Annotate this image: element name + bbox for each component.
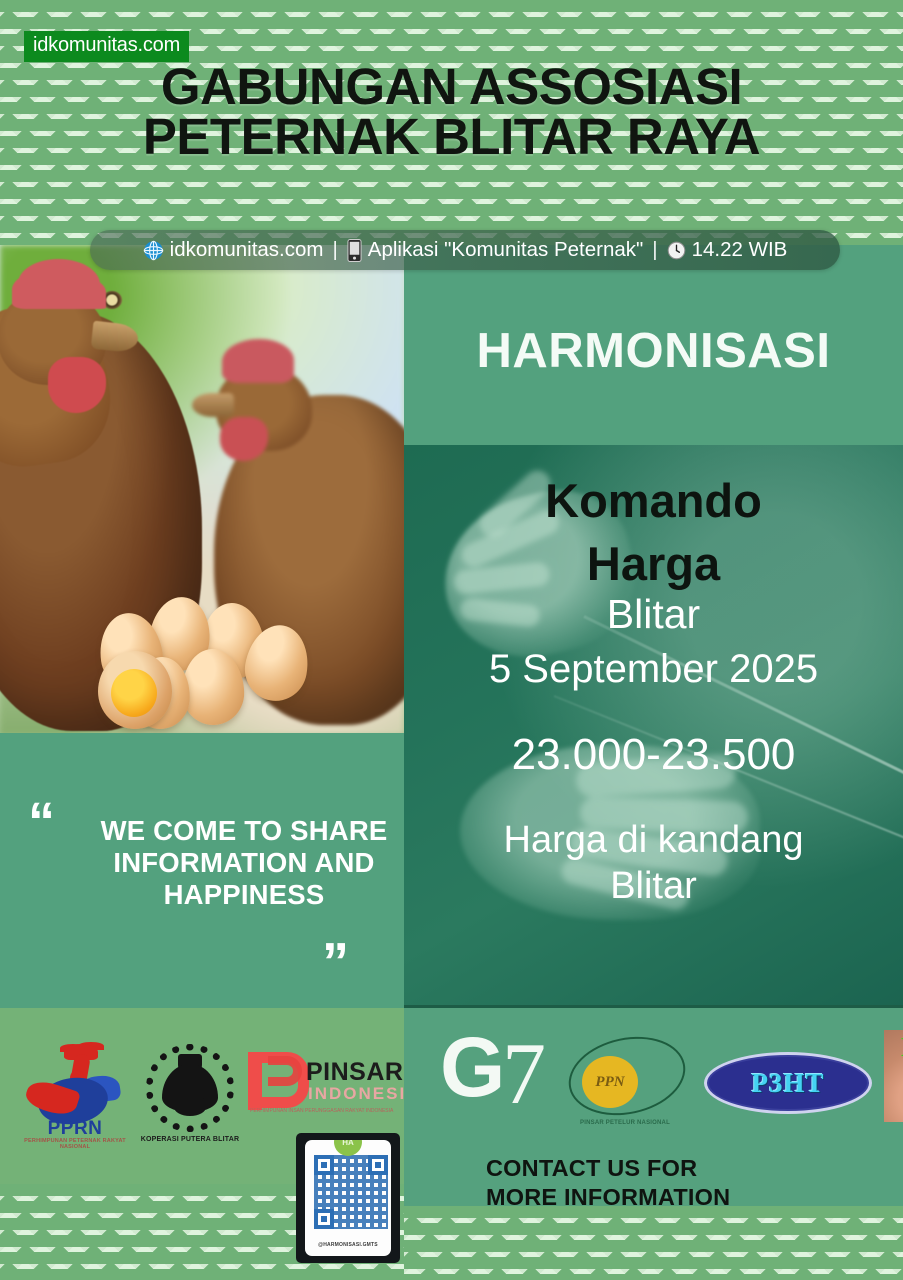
logo-p3ht: P3HT: [704, 1052, 872, 1114]
date-label: 5 September 2025: [404, 636, 903, 690]
logo-htt-line-2: NEWS: [884, 1068, 903, 1088]
info-bar: idkomunitas.com | Aplikasi "Komunitas Pe…: [90, 230, 840, 270]
logo-ppn-caption: PINSAR PETELUR NASIONAL: [560, 1120, 690, 1126]
quote-line-3: HAPPINESS: [84, 879, 404, 911]
info-website-label: idkomunitas.com: [170, 238, 324, 262]
qr-finder-top-right: [368, 1155, 388, 1175]
price-value: 23.000-23.500: [404, 690, 903, 778]
qr-finder-bottom-left: [314, 1209, 334, 1229]
heading-komando: Komando: [404, 445, 903, 524]
quote-line-2: INFORMATION AND: [84, 847, 404, 879]
poster: GABUNGAN ASSOSIASI PETERNAK BLITAR RAYA …: [0, 0, 903, 1280]
title-line-2: PETERNAK BLITAR RAYA: [0, 112, 903, 162]
quote-text: WE COME TO SHARE INFORMATION AND HAPPINE…: [84, 815, 404, 912]
logo-g7-letter: G: [440, 1032, 505, 1103]
info-app[interactable]: Aplikasi "Komunitas Peternak": [347, 238, 644, 262]
info-separator-1: |: [323, 238, 346, 262]
price-note: Harga di kandang Blitar: [404, 778, 903, 909]
clock-icon: [667, 241, 686, 260]
contact-line-1: CONTACT US FOR: [486, 1154, 730, 1183]
logo-pprn: PPRN PERHIMPUNAN PETERNAK RAKYAT NASIONA…: [24, 1046, 126, 1146]
egg-pile: [96, 595, 346, 735]
logo-htt-line-3: OK: [884, 1092, 903, 1109]
info-time: 14.22 WIB: [667, 238, 788, 262]
page-title: GABUNGAN ASSOSIASI PETERNAK BLITAR RAYA: [0, 62, 903, 162]
price-announcement-panel: Komando Harga Blitar 5 September 2025 23…: [404, 445, 903, 1008]
partner-logos-left: PPRN PERHIMPUNAN PETERNAK RAKYAT NASIONA…: [0, 1008, 404, 1280]
qr-caption: @HARMONISASI.GMTS: [305, 1242, 391, 1248]
quote-line-1: WE COME TO SHARE: [84, 815, 404, 847]
price-note-line-1: Harga di kandang: [404, 818, 903, 864]
qr-code-card[interactable]: HA @HARMONISASI.GMTS: [296, 1133, 400, 1263]
quote-panel: “ WE COME TO SHARE INFORMATION AND HAPPI…: [0, 733, 404, 1008]
logo-g7-number: 7: [502, 1038, 546, 1113]
qr-finder-top-left: [314, 1155, 334, 1175]
chevron-strip-bottom-right: [404, 1206, 903, 1280]
info-website[interactable]: idkomunitas.com: [143, 238, 324, 262]
logo-koperasi-putera-blitar: KOPERASI PUTERA BLITAR: [140, 1040, 240, 1152]
quote-open-mark: “: [28, 809, 53, 836]
quote-close-mark: ”: [322, 949, 347, 976]
logo-ppn-label: PPN: [582, 1056, 638, 1108]
info-time-label: 14.22 WIB: [692, 238, 788, 262]
mobile-phone-icon: [347, 239, 362, 262]
logo-koperasi-label: KOPERASI PUTERA BLITAR: [134, 1136, 246, 1143]
heading-harga: Harga: [404, 524, 903, 587]
logo-g7: G 7: [440, 1030, 550, 1134]
logo-pinsar-label: PINSAR: [306, 1058, 403, 1087]
cracked-egg-icon: [98, 651, 172, 729]
partner-logos-right: G 7 PPN PINSAR PETELUR NASIONAL P3HT HTT…: [404, 1008, 903, 1280]
logo-pprn-label: PPRN: [24, 1118, 126, 1140]
city-label: Blitar: [404, 587, 903, 636]
qr-badge: HA: [334, 1140, 362, 1156]
globe-icon: [143, 240, 164, 261]
info-separator-2: |: [643, 238, 666, 262]
chicken-egg-photo: [0, 245, 404, 735]
logo-pinsar-sub: INDONESIA: [308, 1084, 404, 1104]
harmonisasi-title: HARMONISASI: [404, 323, 903, 379]
harmonisasi-panel: HARMONISASI: [404, 245, 903, 445]
price-note-line-2: Blitar: [404, 864, 903, 910]
logo-p3ht-label: P3HT: [704, 1052, 872, 1114]
logo-ppn: PPN PINSAR PETELUR NASIONAL: [564, 1038, 690, 1138]
logo-htt-news: HTT NEWS OK: [884, 1030, 903, 1122]
logo-pinsar-fine: PERHIMPUNAN INSAN PERUNGGASAN RAKYAT IND…: [250, 1108, 398, 1116]
info-app-label: Aplikasi "Komunitas Peternak": [368, 238, 644, 262]
title-line-1: GABUNGAN ASSOSIASI: [161, 58, 742, 115]
watermark-badge: idkomunitas.com: [24, 31, 189, 62]
logo-htt-line-1: HTT: [884, 1032, 903, 1063]
logo-pprn-sub: PERHIMPUNAN PETERNAK RAKYAT NASIONAL: [24, 1138, 126, 1150]
